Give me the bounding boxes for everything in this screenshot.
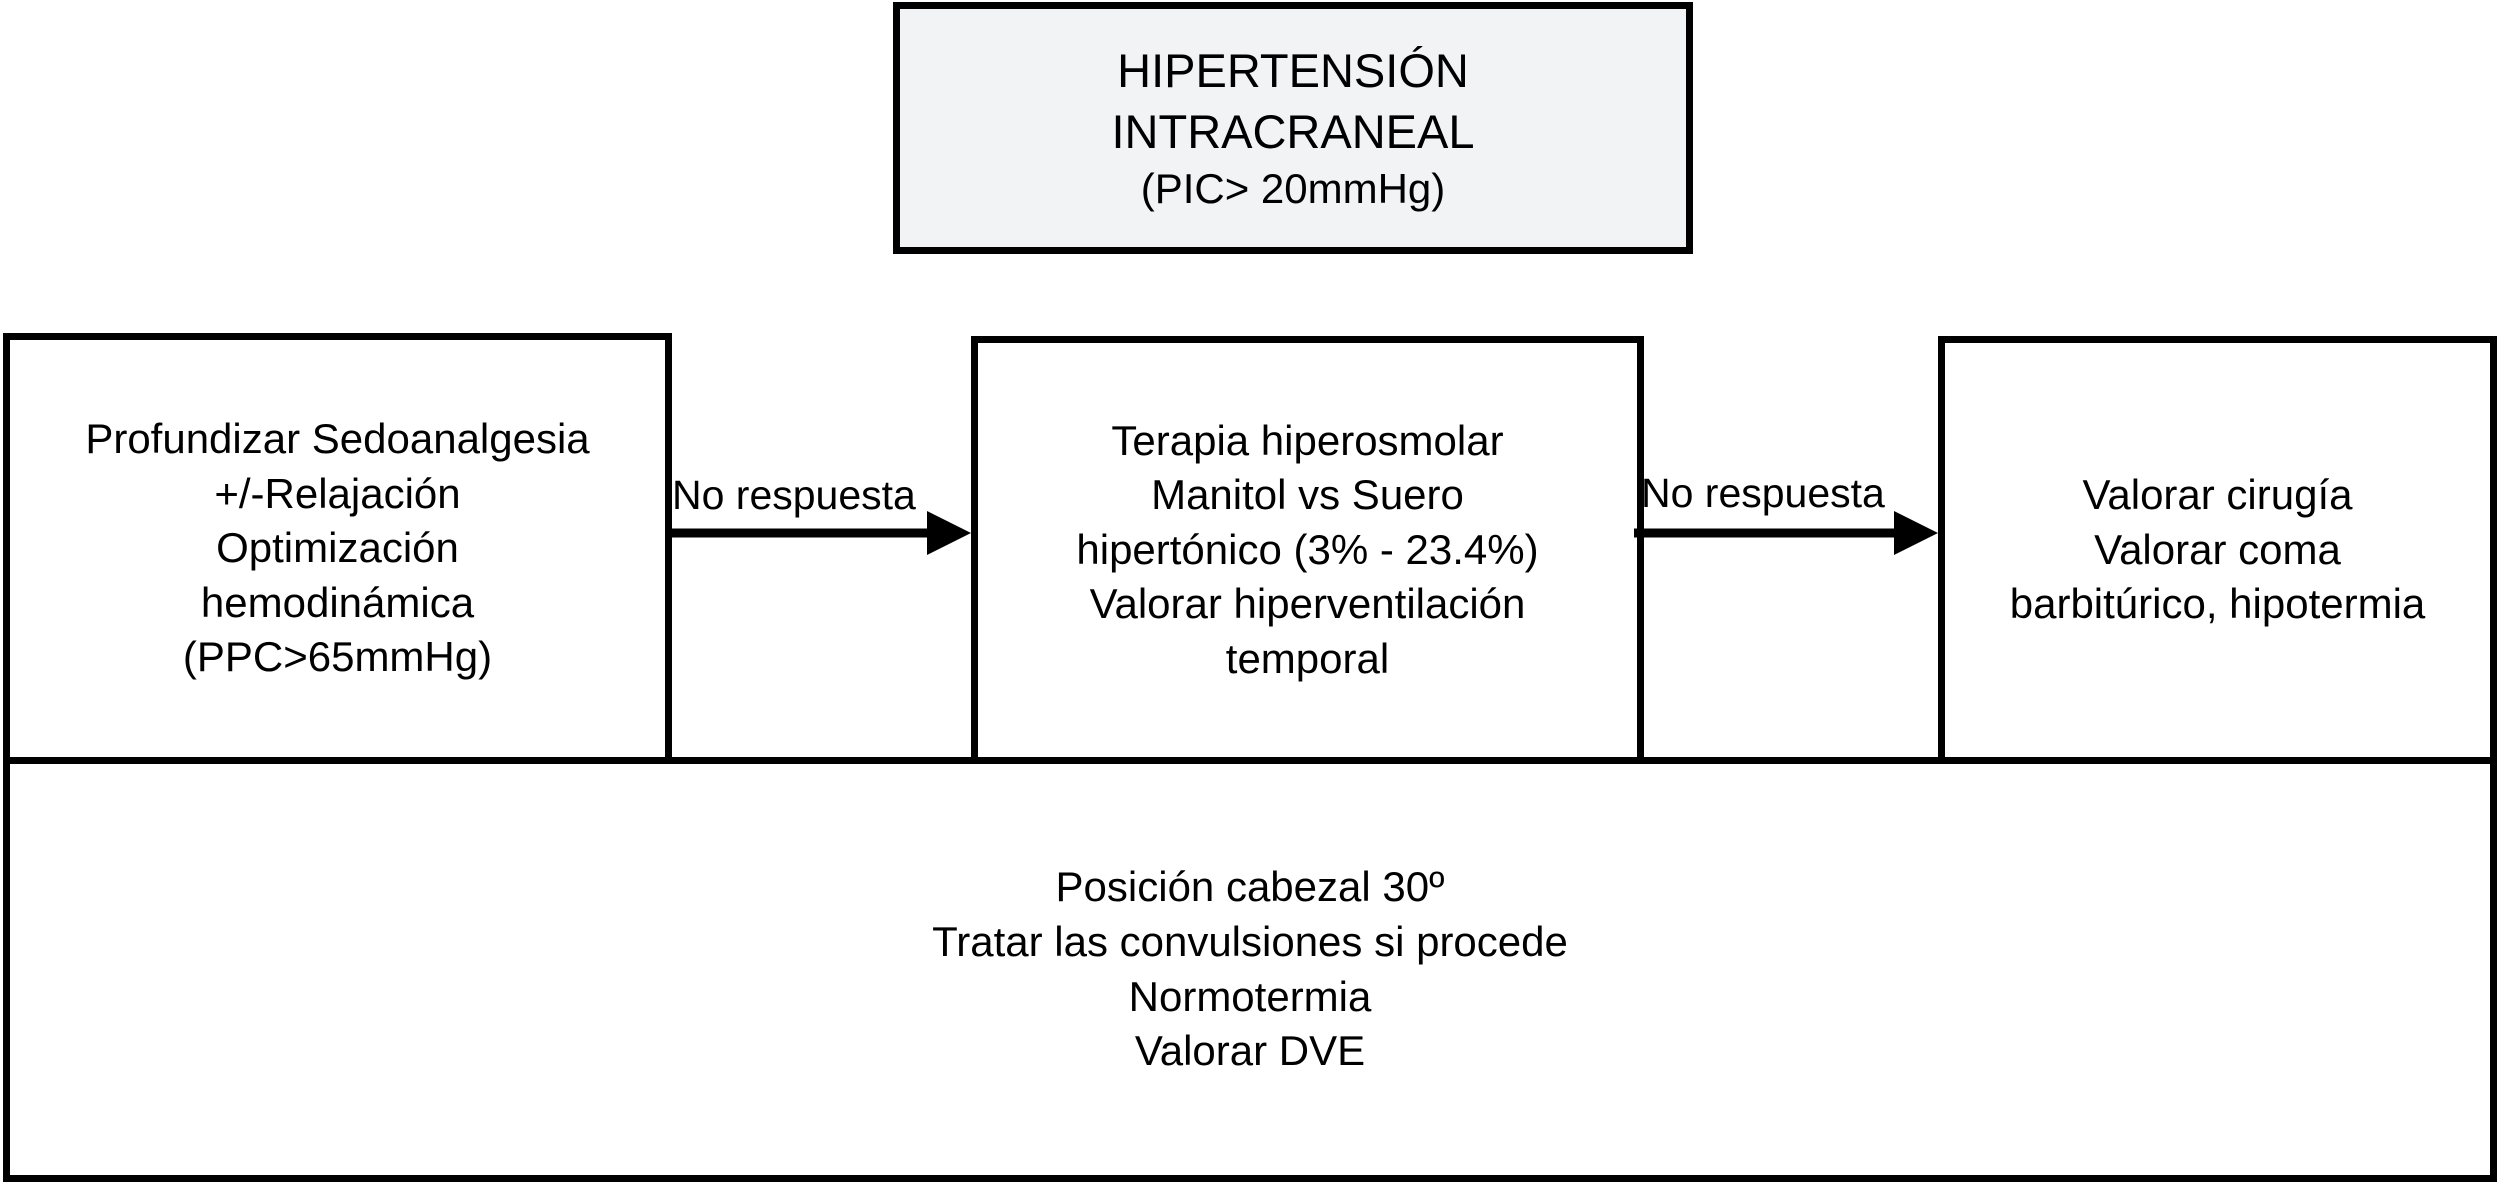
node-general-text: Posición cabezal 30º Tratar las convulsi… <box>922 860 1578 1078</box>
node-hipertension-intracraneal: HIPERTENSIÓN INTRACRANEAL (PIC> 20mmHg) <box>893 2 1693 254</box>
title-line-2: INTRACRANEAL <box>1111 101 1474 162</box>
edge-label-no-respuesta-1: No respuesta <box>672 475 916 516</box>
title-line-3: (PIC> 20mmHg) <box>1111 162 1474 217</box>
node-title-text: HIPERTENSIÓN INTRACRANEAL (PIC> 20mmHg) <box>1111 40 1474 217</box>
node-step1-text: Profundizar Sedoanalgesia +/-Relajación … <box>75 412 599 685</box>
flowchart-canvas: HIPERTENSIÓN INTRACRANEAL (PIC> 20mmHg) … <box>0 0 2500 1185</box>
node-medidas-generales: Posición cabezal 30º Tratar las convulsi… <box>3 757 2497 1182</box>
node-step2-text: Terapia hiperosmolar Manitol vs Suero hi… <box>1066 414 1548 687</box>
node-step3-text: Valorar cirugía Valorar coma barbitúrico… <box>2000 468 2436 632</box>
node-step-terapia-hiperosmolar: Terapia hiperosmolar Manitol vs Suero hi… <box>971 336 1644 764</box>
node-step-valorar-cirugia: Valorar cirugía Valorar coma barbitúrico… <box>1938 336 2497 764</box>
title-line-1: HIPERTENSIÓN <box>1111 40 1474 101</box>
node-step-sedoanalgesia: Profundizar Sedoanalgesia +/-Relajación … <box>3 333 672 764</box>
edge-label-no-respuesta-2: No respuesta <box>1641 473 1885 514</box>
